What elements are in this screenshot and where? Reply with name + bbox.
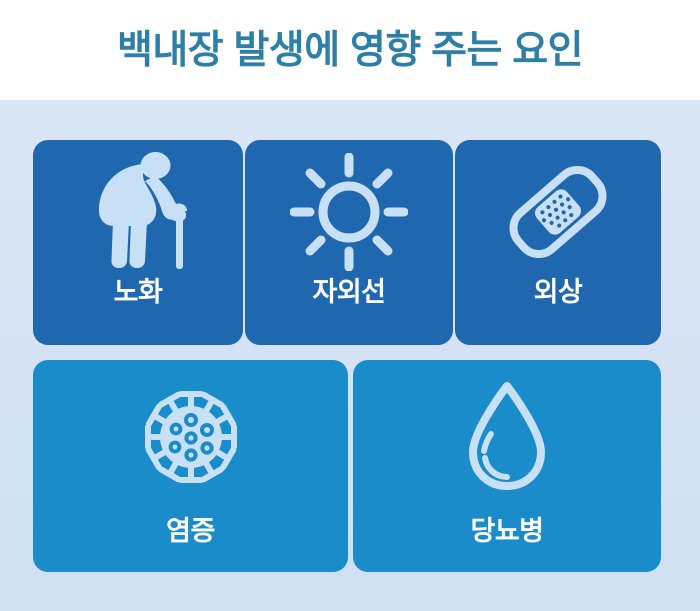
infographic-page: 백내장 발생에 영향 주는 요인 xyxy=(0,0,700,611)
card-label-uv: 자외선 xyxy=(312,279,385,306)
card-label-aging: 노화 xyxy=(114,279,163,306)
bandage-icon xyxy=(455,140,661,275)
card-grid: 노화 xyxy=(0,100,700,611)
factor-card-uv[interactable]: 자외선 xyxy=(245,140,453,345)
virus-icon xyxy=(33,360,348,500)
factor-card-diabetes[interactable]: 당뇨병 xyxy=(353,360,661,572)
card-label-inflammation: 염증 xyxy=(166,518,215,545)
header-bar: 백내장 발생에 영향 주는 요인 xyxy=(0,0,700,100)
page-title: 백내장 발생에 영향 주는 요인 xyxy=(117,31,583,70)
card-label-diabetes: 당뇨병 xyxy=(470,518,543,545)
elderly-person-with-cane-icon xyxy=(33,140,243,275)
factor-card-trauma[interactable]: 외상 xyxy=(455,140,661,345)
factor-card-aging[interactable]: 노화 xyxy=(33,140,243,345)
factor-card-inflammation[interactable]: 염증 xyxy=(33,360,348,572)
water-drop-icon xyxy=(353,360,661,500)
sun-icon xyxy=(245,140,453,275)
card-label-trauma: 외상 xyxy=(534,279,583,306)
